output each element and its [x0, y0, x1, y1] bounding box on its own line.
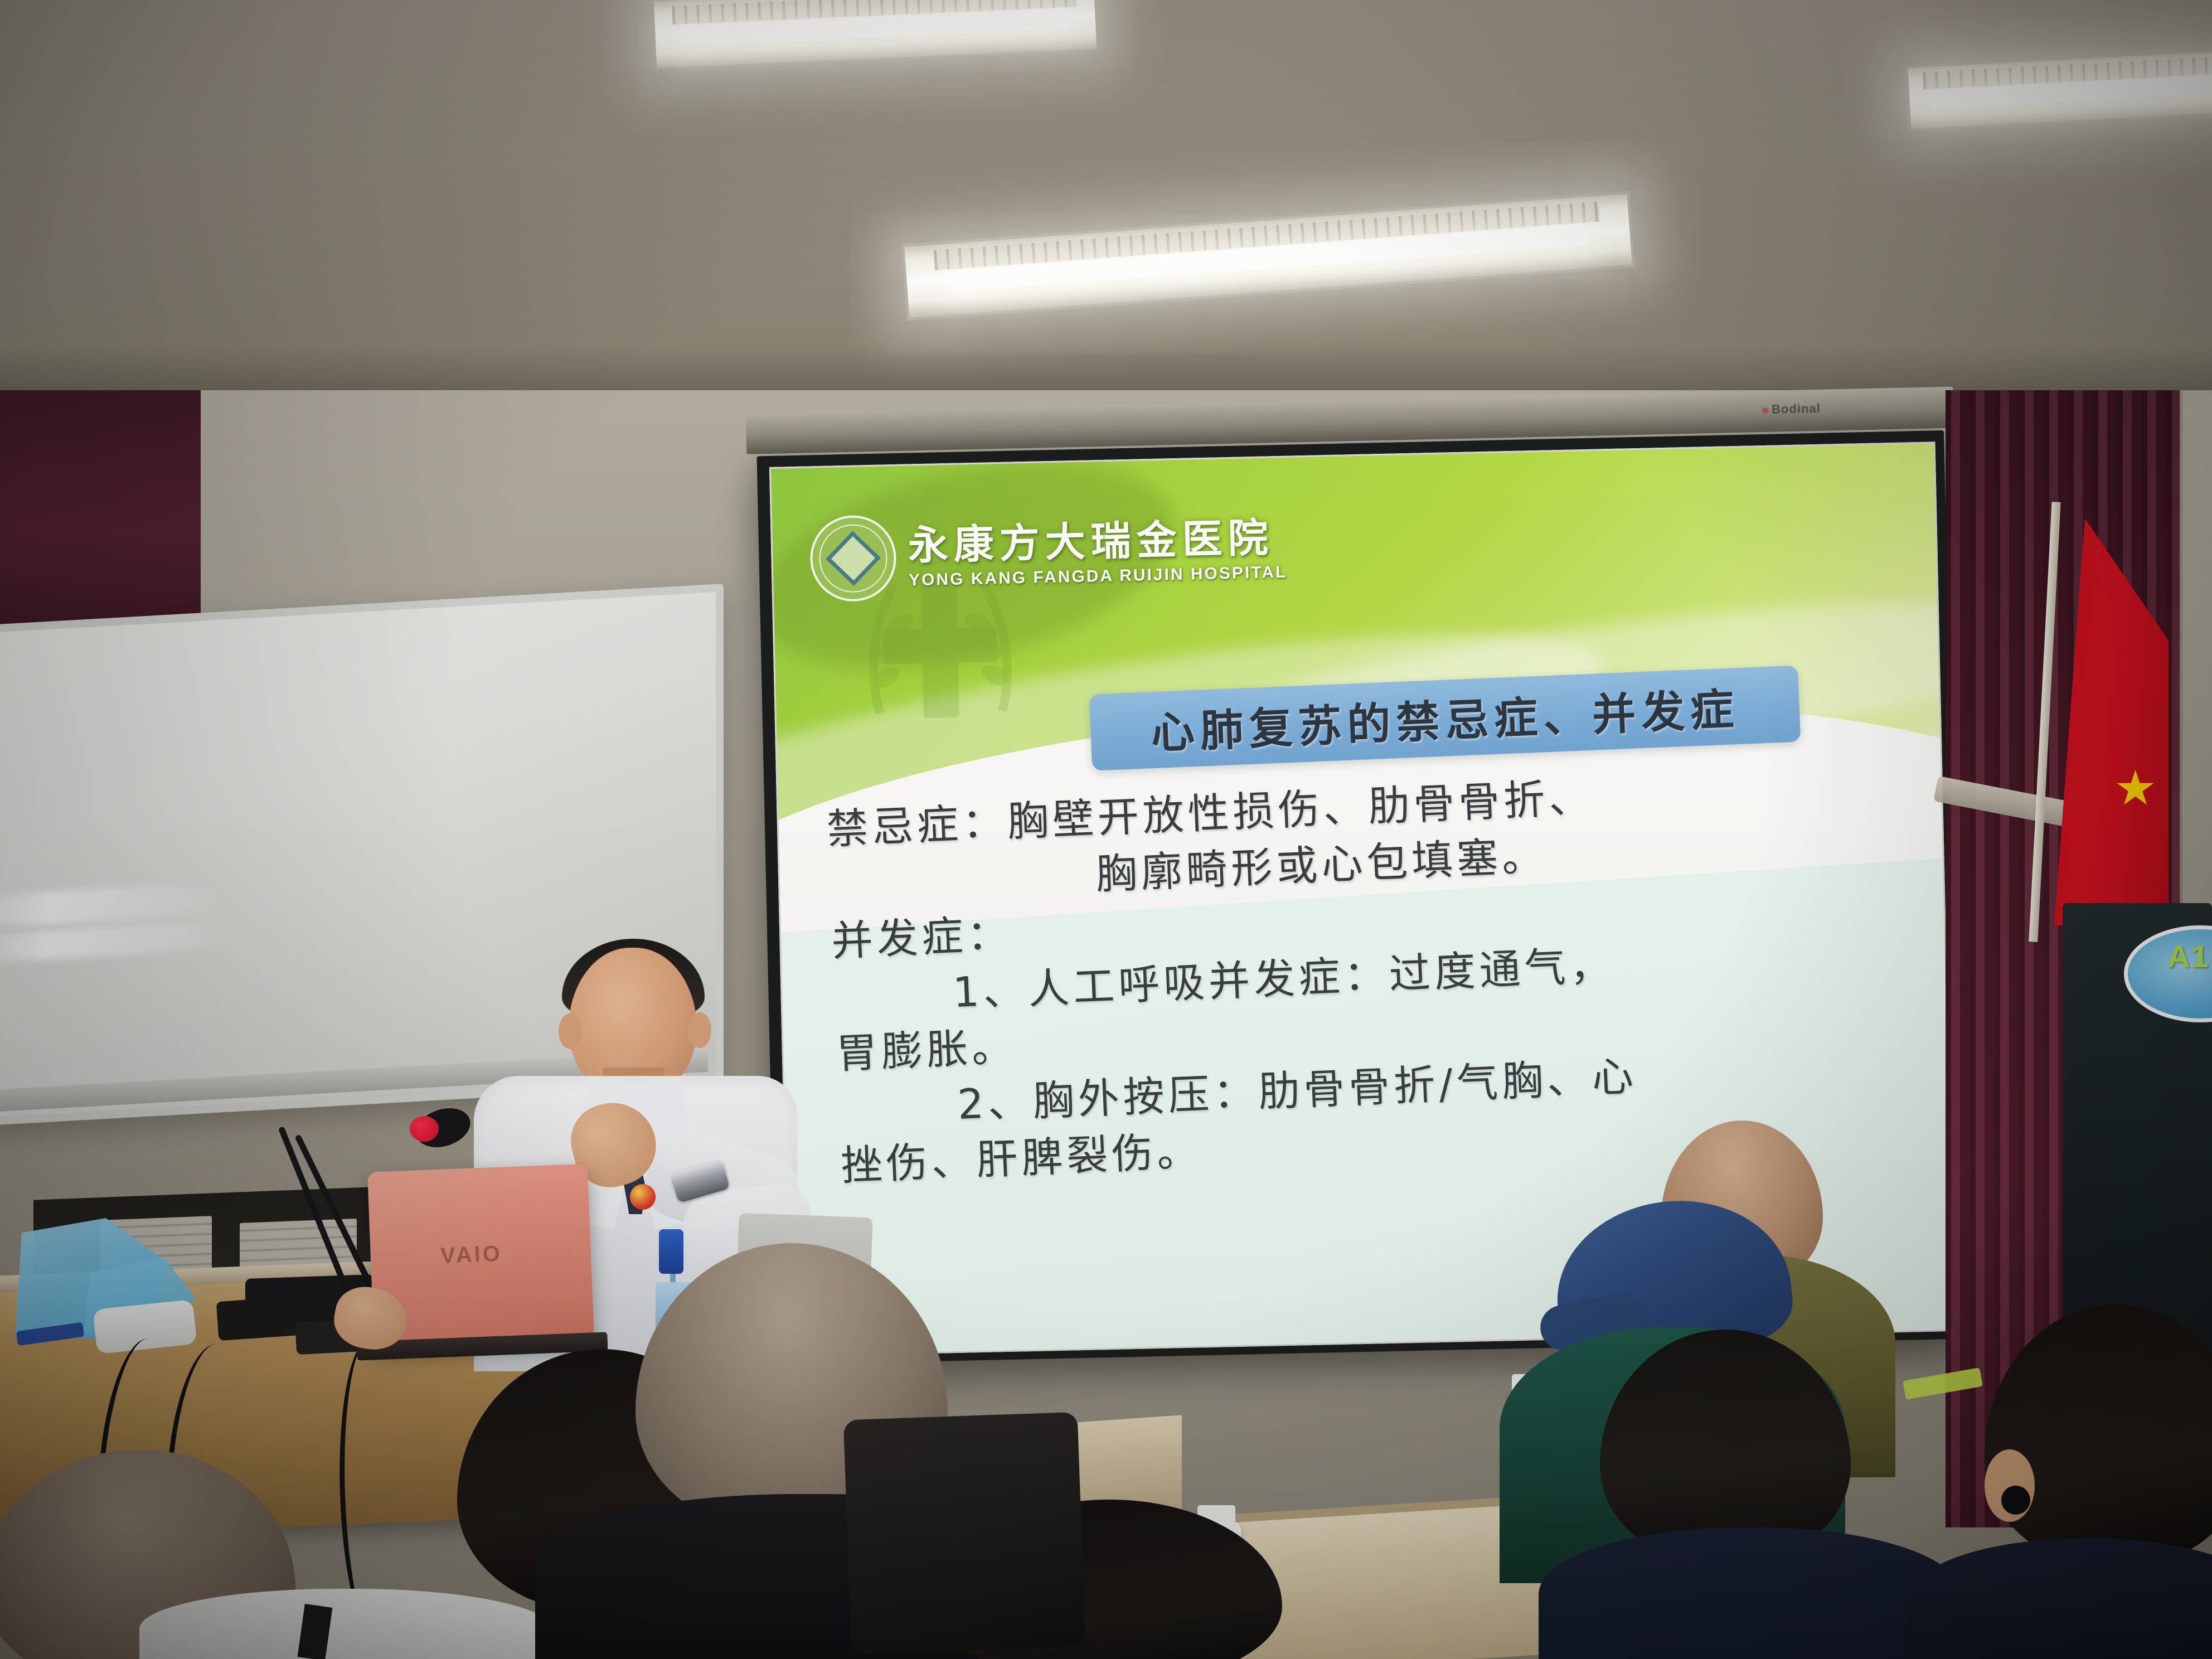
hospital-logo: 永康方大瑞金医院 YONG KANG FANGDA RUIJIN HOSPITA…: [809, 506, 1288, 603]
curtain-left: [0, 390, 201, 624]
bag-on-chair: [843, 1412, 1085, 1654]
seal-core-icon: [826, 531, 881, 586]
earphone-icon: [2001, 1486, 2030, 1515]
presenter-lapel-pin: [630, 1184, 656, 1210]
laptop-brand-label: VAIO: [440, 1240, 524, 1266]
audience-body: [139, 1589, 552, 1659]
hospital-name-en: YONG KANG FANGDA RUIJIN HOSPITAL: [909, 564, 1288, 589]
hospital-seal-icon: [809, 515, 897, 602]
lecture-hall-photo: Bodinal: [0, 0, 2212, 1659]
presenter-ear: [688, 1012, 711, 1048]
whiteboard-glare: [0, 882, 220, 930]
brand-dot-icon: [1762, 408, 1768, 414]
audience-body: [1539, 1527, 1962, 1659]
presenter-pocket-pen: [659, 1229, 683, 1274]
podium-badge-text: A1D: [2167, 938, 2212, 974]
hospital-wordmark: 永康方大瑞金医院 YONG KANG FANGDA RUIJIN HOSPITA…: [908, 517, 1288, 589]
hospital-name-cn: 永康方大瑞金医院: [908, 517, 1287, 566]
screen-brand-text: Bodinal: [1772, 401, 1821, 416]
flag-star-icon: ★: [2114, 772, 2153, 811]
screen-brand-label: Bodinal: [1762, 400, 1863, 419]
whiteboard-glare: [0, 920, 231, 964]
microphone-windscreen: [410, 1116, 439, 1142]
presenter-ear: [559, 1013, 582, 1049]
